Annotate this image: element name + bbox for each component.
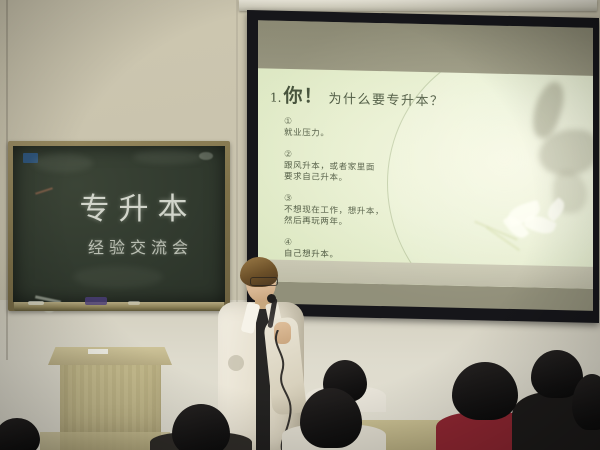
podium-top bbox=[48, 347, 172, 365]
microphone-head bbox=[267, 294, 276, 303]
slide-body: ① 就业压力。 ② 跟风升本，或者家里面 要求自己升本。 ③ 不想现在工作，想升… bbox=[284, 117, 384, 273]
slide-title-rest: 为什么要专升本？ bbox=[328, 88, 444, 110]
screen-dead-band bbox=[258, 20, 593, 76]
slide-item-marker: ④ bbox=[284, 238, 384, 251]
projection-screen-surface: 1. 你！ 为什么要专升本？ ① 就业压力。 ② 跟风升本，或者家里面 要求自己… bbox=[258, 20, 593, 311]
blackboard-eraser[interactable] bbox=[85, 297, 107, 305]
blackboard-surface: 专升本 经验交流会 bbox=[13, 146, 225, 302]
classroom-photo: 专升本 经验交流会 1. 你 bbox=[0, 0, 600, 450]
presentation-slide: 1. 你！ 为什么要专升本？ ① 就业压力。 ② 跟风升本，或者家里面 要求自己… bbox=[258, 68, 593, 289]
slide-item-marker: ① bbox=[284, 117, 384, 130]
slide-list-item: ② 跟风升本，或者家里面 要求自己升本。 bbox=[284, 150, 384, 185]
podium-label bbox=[88, 349, 108, 354]
slide-item-marker: ② bbox=[284, 150, 384, 163]
wall-seam-right bbox=[236, 0, 238, 330]
slide-item-line: 就业压力。 bbox=[284, 128, 384, 141]
slide-list-item: ④ 自己想升本。 bbox=[284, 238, 384, 262]
slide-title-emphasis: 你！ bbox=[283, 81, 323, 109]
slide-list-item: ③ 不想现在工作，想升本， 然后再玩两年。 bbox=[284, 194, 384, 229]
audience-head bbox=[452, 362, 518, 420]
chalk-stick[interactable] bbox=[28, 301, 44, 305]
chalk-smudge bbox=[133, 150, 203, 164]
chalk-ledge bbox=[14, 302, 224, 311]
blackboard-subline: 经验交流会 bbox=[53, 234, 228, 258]
chalk-smudge bbox=[33, 154, 93, 172]
blackboard-headline: 专升本 bbox=[63, 184, 213, 228]
audience-head bbox=[300, 388, 362, 448]
chalk-stick[interactable] bbox=[128, 301, 140, 305]
blackboard: 专升本 经验交流会 bbox=[8, 141, 230, 311]
slide-title: 1. 你！ 为什么要专升本？ bbox=[270, 81, 444, 112]
chalk-mark bbox=[199, 152, 213, 160]
chalk-smudge bbox=[73, 266, 163, 288]
slide-item-line: 要求自己升本。 bbox=[284, 172, 384, 185]
slide-list-item: ① 就业压力。 bbox=[284, 117, 384, 141]
slide-item-line: 然后再玩两年。 bbox=[284, 216, 384, 229]
presenter-jacket-pocket bbox=[228, 355, 244, 371]
slide-title-number: 1. bbox=[270, 91, 281, 105]
screen-roller-casing bbox=[239, 0, 597, 11]
projection-screen: 1. 你！ 为什么要专升本？ ① 就业压力。 ② 跟风升本，或者家里面 要求自己… bbox=[247, 10, 599, 323]
chalk-mark bbox=[35, 187, 53, 194]
slide-item-marker: ③ bbox=[284, 194, 384, 207]
glasses-icon bbox=[250, 277, 278, 286]
